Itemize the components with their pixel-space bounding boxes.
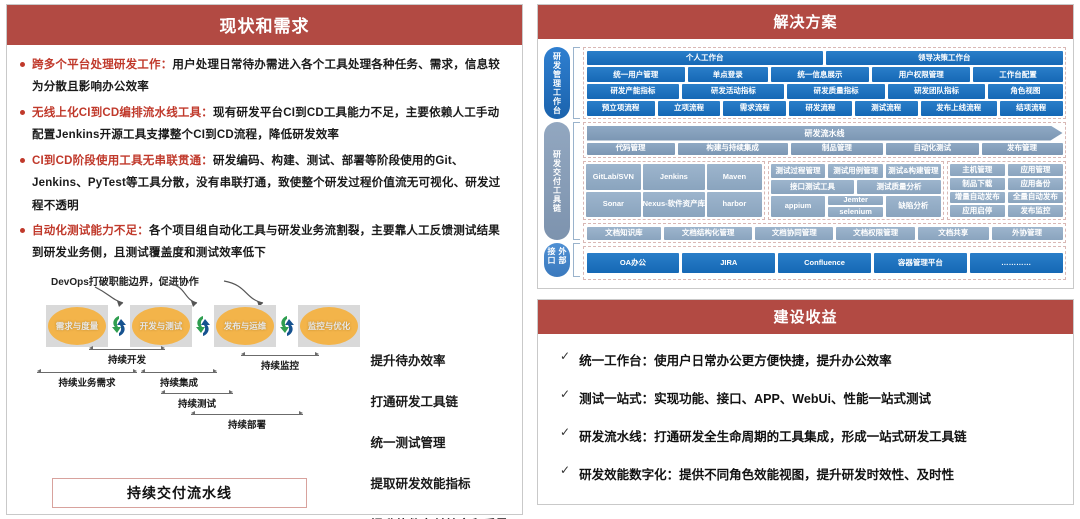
bullet-lead: 跨多个平台处理研发工作： [32, 59, 172, 71]
bracket [573, 47, 580, 119]
rail-delivery-toolchain: 研发交付工具链 [544, 122, 570, 240]
external-group: OA办公 JIRA Confluence 容器管理平台 ………… [583, 246, 1066, 280]
architecture-content: 个人工作台 领导决策工作台 统一用户管理 单点登录 统一信息展示 用户权限管理 … [583, 45, 1066, 282]
list-item: ✓ 统一工作台：使用户日常办公更方便快捷，提升办公效率 [560, 350, 1053, 369]
chip-pre-project-process[interactable]: 预立项流程 [587, 101, 655, 116]
chip-doc-collab-mgmt[interactable]: 文档协同管理 [755, 227, 833, 240]
sync-icon [276, 314, 298, 338]
docs-group: 文档知识库 文档结构化管理 文档协同管理 文档权限管理 文档共享 外协管理 [583, 223, 1066, 243]
chip-defect-analysis[interactable]: 缺陷分析 [886, 196, 941, 217]
docs-row: 文档知识库 文档结构化管理 文档协同管理 文档权限管理 文档共享 外协管理 [587, 227, 1063, 240]
span-label: 持续部署 [191, 417, 303, 431]
workbench-group: 个人工作台 领导决策工作台 统一用户管理 单点登录 统一信息展示 用户权限管理 … [583, 47, 1066, 119]
benefit-text: 研发效能数字化：提供不同角色效能视图，提升研发时效性、及时性 [579, 464, 954, 483]
list-item: 统一测试管理 [371, 432, 509, 451]
span-continuous-integration: 持续集成 [141, 372, 217, 389]
chip-jenkins[interactable]: Jenkins [643, 164, 706, 190]
pipeline-group: 研发流水线 代码管理 构建与持续集成 制品管理 自动化测试 发布管理 [583, 122, 1066, 158]
benefit-text: 测试一站式：实现功能、接口、APP、WebUi、性能一站式测试 [579, 388, 931, 407]
stage-dev-test: 开发与测试 [130, 305, 192, 347]
list-item: CI到CD阶段使用工具无串联贯通：研发编码、构建、测试、部署等阶段使用的Git、… [19, 150, 510, 217]
benefits-body: ✓ 统一工作台：使用户日常办公更方便快捷，提升办公效率 ✓ 测试一站式：实现功能… [538, 334, 1073, 504]
chip-closing-process[interactable]: 结项流程 [1000, 101, 1063, 116]
chip-auto-test[interactable]: 自动化测试 [886, 143, 978, 155]
stage-demand: 需求与度量 [46, 305, 108, 347]
span-label: 持续业务需求 [37, 375, 137, 389]
chip-more-placeholder[interactable]: ………… [970, 253, 1063, 273]
span-continuous-dev: 持续开发 [89, 349, 165, 366]
chip-leader-decision-workbench[interactable]: 领导决策工作台 [826, 51, 1062, 66]
chip-user-permission-mgmt[interactable]: 用户权限管理 [872, 67, 970, 82]
test-row-mid: 接口测试工具 测试质量分析 [771, 180, 941, 194]
chip-doc-permission-mgmt[interactable]: 文档权限管理 [836, 227, 914, 240]
chip-artifact-download[interactable]: 制品下载 [950, 178, 1005, 190]
chip-doc-share[interactable]: 文档共享 [918, 227, 989, 240]
pipeline-stage-row: 代码管理 构建与持续集成 制品管理 自动化测试 发布管理 [587, 143, 1063, 155]
rail-dev-management-workbench: 研发管理工作台 [544, 47, 570, 119]
span-arrow [141, 372, 217, 373]
current-situation-card: 现状和需求 跨多个平台处理研发工作：用户处理日常待办需进入各个工具处理各种任务、… [6, 4, 523, 515]
chip-dev-process[interactable]: 研发流程 [789, 101, 852, 116]
list-item: 提升软件交付效率和质量 [371, 514, 509, 519]
span-arrow [37, 372, 137, 373]
tool-col-scm: GitLab/SVN Sonar [586, 164, 641, 217]
chip-artifact-mgmt[interactable]: 制品管理 [791, 143, 883, 155]
test-sub-col: Jemter selenium [828, 196, 883, 217]
bullet-lead: 自动化测试能力不足： [32, 225, 149, 237]
span-label: 持续监控 [241, 358, 319, 372]
tools-group: GitLab/SVN Sonar Jenkins Nexus-软件资产库 Mav… [583, 161, 1066, 220]
tool-group-scm-build: GitLab/SVN Sonar Jenkins Nexus-软件资产库 Mav… [583, 161, 765, 220]
span-continuous-deploy: 持续部署 [191, 414, 303, 431]
list-item: 自动化测试能力不足：各个项目组自动化工具与研发业务流割裂，主要靠人工反馈测试结果… [19, 220, 510, 265]
stage-label: 需求与度量 [56, 320, 99, 332]
tool-group-deploy: 主机管理 应用管理 制品下载 应用备份 增量自动发布 全量自动发布 [947, 161, 1066, 220]
chip-test-process-mgmt[interactable]: 测试过程管理 [771, 164, 826, 178]
test-row-top: 测试过程管理 测试用例管理 测试&构建管理 [771, 164, 941, 178]
chip-activity-metric[interactable]: 研发活动指标 [682, 84, 784, 99]
chip-api-test-tool[interactable]: 接口测试工具 [771, 180, 855, 194]
chip-maven[interactable]: Maven [707, 164, 762, 190]
span-arrow [161, 393, 233, 394]
chip-workbench-config[interactable]: 工作台配置 [973, 67, 1062, 82]
chip-harbor[interactable]: harbor [707, 192, 762, 218]
chip-app-mgmt[interactable]: 应用管理 [1008, 164, 1063, 176]
continuous-delivery-pipeline-box: 持续交付流水线 [52, 478, 307, 508]
architecture-diagram: 研发管理工作台 研发交付工具链 外部接口 个人工作台 领导决策工作台 [538, 39, 1073, 288]
stage-monitor-optimize: 监控与优化 [298, 305, 360, 347]
bullet-lead: 无线上化CI到CD编排流水线工具： [32, 107, 213, 119]
solution-card: 解决方案 研发管理工作台 研发交付工具链 外部接口 个人工作台 [537, 4, 1074, 289]
chip-test-build-mgmt[interactable]: 测试&构建管理 [886, 164, 941, 178]
chip-role-view[interactable]: 角色视图 [988, 84, 1062, 99]
list-item: 提升待办效率 [371, 350, 509, 369]
check-icon: ✓ [560, 426, 570, 439]
deploy-row-4: 应用启停 发布监控 [950, 205, 1063, 217]
chip-appium[interactable]: appium [771, 196, 826, 217]
stage-release-ops: 发布与运维 [214, 305, 276, 347]
sync-icon [108, 314, 130, 338]
list-item: ✓ 测试一站式：实现功能、接口、APP、WebUi、性能一站式测试 [560, 388, 1053, 407]
chip-release-mgmt[interactable]: 发布管理 [982, 143, 1063, 155]
chip-quality-metric[interactable]: 研发质量指标 [787, 84, 884, 99]
span-label: 持续集成 [141, 375, 217, 389]
chip-gitlab-svn[interactable]: GitLab/SVN [586, 164, 641, 190]
rail-external-interface: 外部接口 [544, 243, 570, 277]
chip-release-monitor[interactable]: 发布监控 [1008, 205, 1063, 217]
chip-confluence[interactable]: Confluence [778, 253, 871, 273]
workbench-row-4: 预立项流程 立项流程 需求流程 研发流程 测试流程 发布上线流程 结项流程 [587, 101, 1063, 116]
benefits-card: 建设收益 ✓ 统一工作台：使用户日常办公更方便快捷，提升办公效率 ✓ 测试一站式… [537, 299, 1074, 505]
bracket [573, 122, 580, 240]
deploy-row-2: 制品下载 应用备份 [950, 178, 1063, 190]
span-continuous-monitor: 持续监控 [241, 355, 319, 372]
span-label: 持续测试 [161, 396, 233, 410]
stage-label: 监控与优化 [308, 320, 351, 332]
deploy-row-3: 增量自动发布 全量自动发布 [950, 192, 1063, 204]
slide-root: 现状和需求 跨多个平台处理研发工作：用户处理日常待办需进入各个工具处理各种任务、… [0, 0, 1080, 519]
list-item: 打通研发工具链 [371, 391, 509, 410]
span-continuous-test: 持续测试 [161, 393, 233, 410]
chip-test-quality-analysis[interactable]: 测试质量分析 [857, 180, 941, 194]
chip-release-process[interactable]: 发布上线流程 [921, 101, 997, 116]
test-row-bottom: appium Jemter selenium 缺陷分析 [771, 196, 941, 217]
workbench-row-3: 研发产能指标 研发活动指标 研发质量指标 研发团队指标 角色视图 [587, 84, 1063, 99]
sync-icon [192, 314, 214, 338]
chip-team-metric[interactable]: 研发团队指标 [888, 84, 985, 99]
bracket [573, 243, 580, 277]
benefit-text: 统一工作台：使用户日常办公更方便快捷，提升办公效率 [579, 350, 892, 369]
chip-build-ci[interactable]: 构建与持续集成 [678, 143, 788, 155]
chip-app-backup[interactable]: 应用备份 [1008, 178, 1063, 190]
check-icon: ✓ [560, 464, 570, 477]
lifecycle-spans: 持续开发 持续监控 持续业务需求 持续集成 [19, 349, 349, 419]
span-arrow [89, 349, 165, 350]
architecture-layer-rails: 研发管理工作台 研发交付工具链 外部接口 [544, 45, 570, 282]
chip-project-process[interactable]: 立项流程 [658, 101, 721, 116]
devops-note: DevOps打破职能边界，促进协作 [51, 273, 199, 288]
benefits-title: 建设收益 [538, 300, 1073, 334]
check-icon: ✓ [560, 350, 570, 363]
chip-jira[interactable]: JIRA [682, 253, 775, 273]
benefit-text: 研发流水线：打通研发全生命周期的工具集成，形成一站式研发工具链 [579, 426, 967, 445]
outcomes-list: 提升待办效率 打通研发工具链 统一测试管理 提取研发效能指标 提升软件交付效率和… [371, 350, 509, 519]
chip-sonar[interactable]: Sonar [586, 192, 641, 218]
list-item: ✓ 研发流水线：打通研发全生命周期的工具集成，形成一站式研发工具链 [560, 426, 1053, 445]
chip-requirement-process[interactable]: 需求流程 [723, 101, 786, 116]
span-continuous-business: 持续业务需求 [37, 372, 137, 389]
chip-incremental-release[interactable]: 增量自动发布 [950, 192, 1005, 204]
chip-sso[interactable]: 单点登录 [688, 67, 768, 82]
chip-app-start-stop[interactable]: 应用启停 [950, 205, 1005, 217]
chip-oa[interactable]: OA办公 [587, 253, 680, 273]
stage-label: 开发与测试 [140, 320, 183, 332]
list-item: 提取研发效能指标 [371, 473, 509, 492]
requirements-bullet-list: 跨多个平台处理研发工作：用户处理日常待办需进入各个工具处理各种任务、需求，信息较… [19, 54, 510, 265]
deploy-row-1: 主机管理 应用管理 [950, 164, 1063, 176]
chip-code-mgmt[interactable]: 代码管理 [587, 143, 675, 155]
workbench-row-2: 统一用户管理 单点登录 统一信息展示 用户权限管理 工作台配置 [587, 67, 1063, 82]
chip-doc-structured-mgmt[interactable]: 文档结构化管理 [664, 227, 752, 240]
chip-test-process[interactable]: 测试流程 [855, 101, 918, 116]
current-situation-body: 跨多个平台处理研发工作：用户处理日常待办需进入各个工具处理各种任务、需求，信息较… [7, 45, 522, 514]
chip-container-platform[interactable]: 容器管理平台 [874, 253, 967, 273]
chip-test-case-mgmt[interactable]: 测试用例管理 [828, 164, 883, 178]
chip-selenium[interactable]: selenium [828, 207, 883, 217]
span-arrow [191, 414, 303, 415]
chip-doc-knowledge-base[interactable]: 文档知识库 [587, 227, 662, 240]
chip-personal-workbench[interactable]: 个人工作台 [587, 51, 823, 66]
chip-capacity-metric[interactable]: 研发产能指标 [587, 84, 680, 99]
check-icon: ✓ [560, 388, 570, 401]
chip-unified-user-mgmt[interactable]: 统一用户管理 [587, 67, 685, 82]
right-column: 解决方案 研发管理工作台 研发交付工具链 外部接口 个人工作台 [537, 4, 1074, 515]
list-item: 跨多个平台处理研发工作：用户处理日常待办需进入各个工具处理各种任务、需求，信息较… [19, 54, 510, 99]
lifecycle-stages: 需求与度量 开发与测试 发布与运维 [46, 305, 360, 347]
chip-nexus[interactable]: Nexus-软件资产库 [643, 192, 706, 218]
chip-host-mgmt[interactable]: 主机管理 [950, 164, 1005, 176]
span-arrow [241, 355, 319, 356]
tool-col-artifact: Maven harbor [707, 164, 762, 217]
stage-label: 发布与运维 [224, 320, 267, 332]
bullet-lead: CI到CD阶段使用工具无串联贯通： [32, 155, 213, 167]
solution-title: 解决方案 [538, 5, 1073, 39]
chip-unified-info-display[interactable]: 统一信息展示 [771, 67, 869, 82]
current-situation-title: 现状和需求 [7, 5, 522, 45]
list-item: 无线上化CI到CD编排流水线工具：现有研发平台CI到CD工具能力不足，主要依赖人… [19, 102, 510, 147]
tool-col-ci: Jenkins Nexus-软件资产库 [643, 164, 706, 217]
pipeline-banner: 研发流水线 [587, 126, 1063, 141]
architecture-brackets [573, 45, 580, 282]
tool-group-testing: 测试过程管理 测试用例管理 测试&构建管理 接口测试工具 测试质量分析 appi… [768, 161, 944, 220]
workbench-top-row: 个人工作台 领导决策工作台 [587, 51, 1063, 66]
chip-full-release[interactable]: 全量自动发布 [1008, 192, 1063, 204]
span-label: 持续开发 [89, 352, 165, 366]
chip-jmeter[interactable]: Jemter [828, 196, 883, 206]
external-row: OA办公 JIRA Confluence 容器管理平台 ………… [587, 253, 1063, 273]
chip-outsourcing-mgmt[interactable]: 外协管理 [992, 227, 1063, 240]
list-item: ✓ 研发效能数字化：提供不同角色效能视图，提升研发时效性、及时性 [560, 464, 1053, 483]
